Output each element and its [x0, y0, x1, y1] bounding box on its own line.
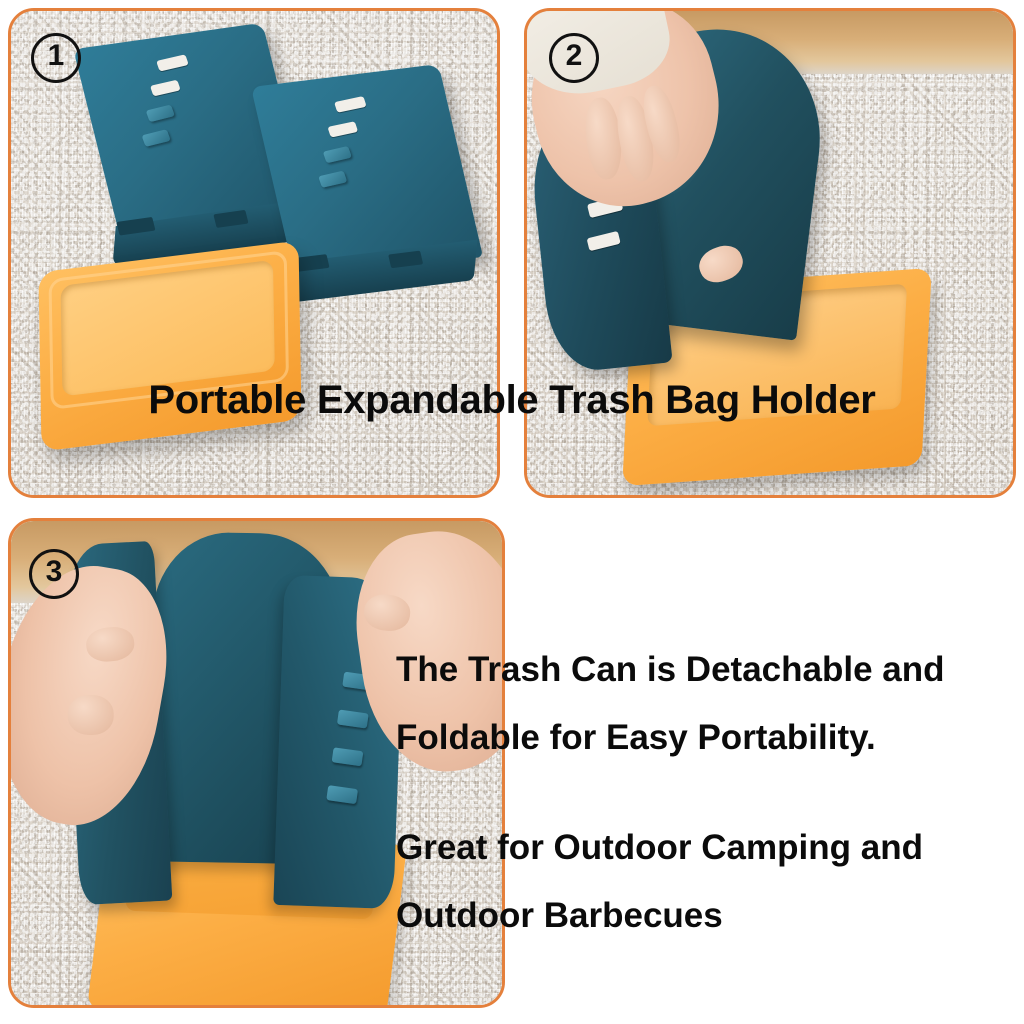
step-badge-1: 1	[31, 33, 81, 83]
tab-icon	[337, 709, 369, 728]
tab-icon	[318, 171, 347, 188]
step-badge-3: 3	[29, 549, 79, 599]
feature-text-block: The Trash Can is Detachable and Foldable…	[396, 636, 1024, 950]
tab-icon	[323, 146, 352, 163]
finger	[362, 592, 412, 633]
slot-icon	[327, 121, 358, 137]
feature-p1-line-1: The Trash Can is Detachable and	[396, 636, 1024, 704]
feature-p2-line-1: Great for Outdoor Camping and	[396, 814, 1024, 882]
slot-icon	[156, 54, 189, 71]
paragraph-spacer	[396, 772, 1024, 814]
tab-icon	[332, 747, 364, 766]
slot-icon	[334, 96, 367, 113]
tab-icon	[142, 129, 171, 147]
feature-paragraph-1: The Trash Can is Detachable and Foldable…	[396, 636, 1024, 772]
tab-icon	[326, 785, 358, 804]
product-photo-panel-2: 2	[524, 8, 1016, 498]
slot-icon	[150, 80, 181, 97]
finger	[85, 625, 136, 664]
step-badge-2: 2	[549, 33, 599, 83]
slot-icon	[587, 231, 621, 251]
product-photo-panel-1: 1	[8, 8, 500, 498]
tab-icon	[146, 105, 175, 123]
finger	[68, 695, 114, 735]
page-headline: Portable Expandable Trash Bag Holder	[0, 378, 1024, 423]
feature-paragraph-2: Great for Outdoor Camping and Outdoor Ba…	[396, 814, 1024, 950]
infographic-canvas: 1	[0, 0, 1024, 1024]
feature-p2-line-2: Outdoor Barbecues	[396, 882, 1024, 950]
feature-p1-line-2: Foldable for Easy Portability.	[396, 704, 1024, 772]
